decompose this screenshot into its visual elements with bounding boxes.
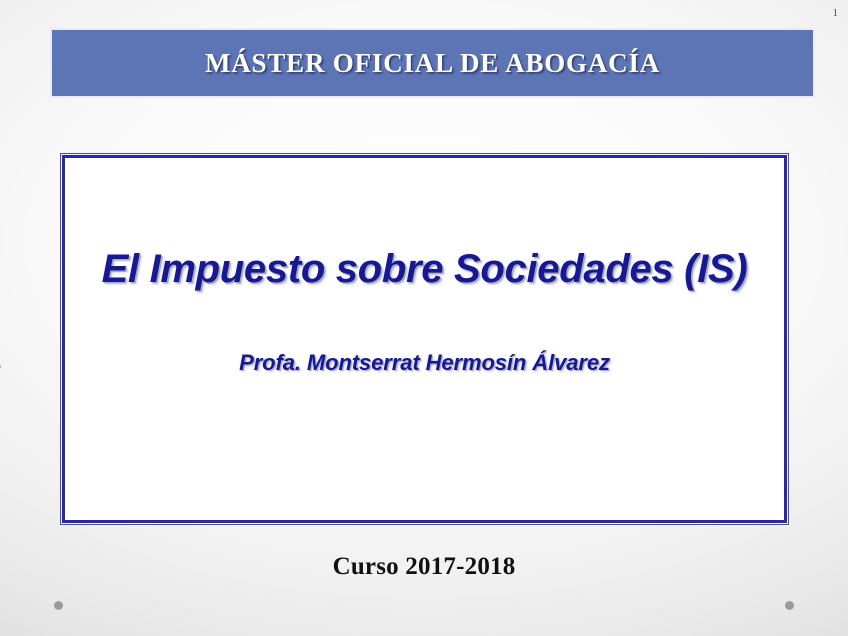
decorative-dot-right	[785, 601, 794, 610]
slide-number: 1	[833, 8, 839, 19]
decorative-dot-left	[54, 601, 63, 610]
title-content-box: El Impuesto sobre Sociedades (IS) Profa.…	[62, 155, 787, 523]
copyright-credit-vertical: ©. Área de Derecho Financiero y Tributar…	[0, 151, 1, 528]
header-banner: MÁSTER OFICIAL DE ABOGACÍA	[50, 28, 815, 98]
course-year: Curso 2017-2018	[0, 554, 848, 579]
presentation-slide: 1 ©. Área de Derecho Financiero y Tribut…	[0, 0, 848, 636]
header-title: MÁSTER OFICIAL DE ABOGACÍA	[205, 50, 660, 77]
title-block: El Impuesto sobre Sociedades (IS)	[65, 244, 784, 295]
page-title: El Impuesto sobre Sociedades (IS)	[65, 244, 784, 295]
author-name: Profa. Montserrat Hermosín Álvarez	[47, 350, 802, 376]
